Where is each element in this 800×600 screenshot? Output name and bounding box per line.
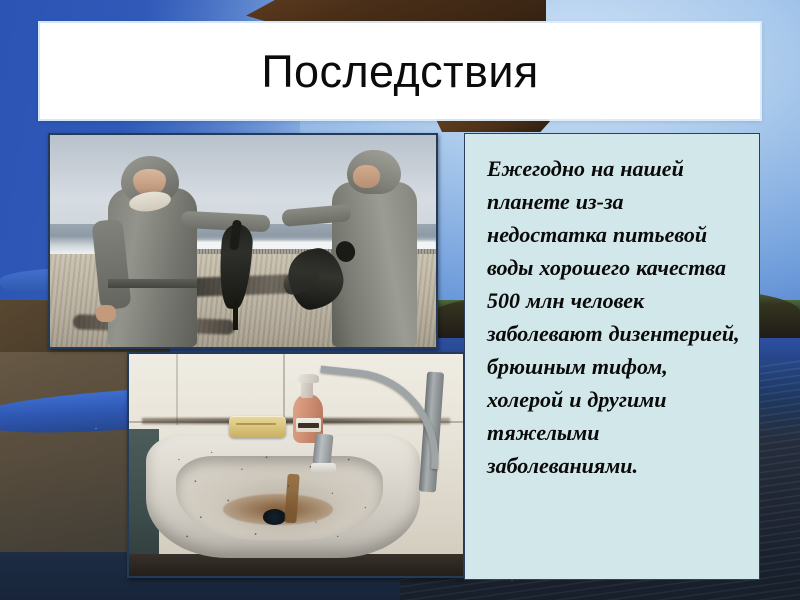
photo2-soap-bar-groove xyxy=(236,423,276,425)
beach-oil-spill-cleanup-photo xyxy=(48,133,438,349)
body-text: Ежегодно на нашей планете из-за недостат… xyxy=(487,152,745,482)
photo2-soap-dispenser-neck xyxy=(301,381,313,399)
photo2-tile-grout-vertical-1 xyxy=(176,354,178,425)
photo1-worker-right-face xyxy=(353,165,380,188)
body-text-panel: Ежегодно на нашей планете из-за недостат… xyxy=(464,133,760,580)
photo2-tile-grout-vertical-2 xyxy=(283,354,285,425)
photo2-faucet-tip xyxy=(311,463,336,474)
photo1-worker-left-belt xyxy=(108,279,197,287)
photo1-oiled-bird-left-leg xyxy=(233,300,238,330)
dirty-sink-photo xyxy=(127,352,465,578)
photo1-worker-left-hand xyxy=(96,305,115,322)
page-title: Последствия xyxy=(261,49,538,94)
photo2-soap-dispenser-pump xyxy=(298,374,320,383)
photo2-soap-bar xyxy=(229,416,286,438)
presentation-slide: Последствия xyxy=(0,0,800,600)
title-box: Последствия xyxy=(40,23,760,119)
